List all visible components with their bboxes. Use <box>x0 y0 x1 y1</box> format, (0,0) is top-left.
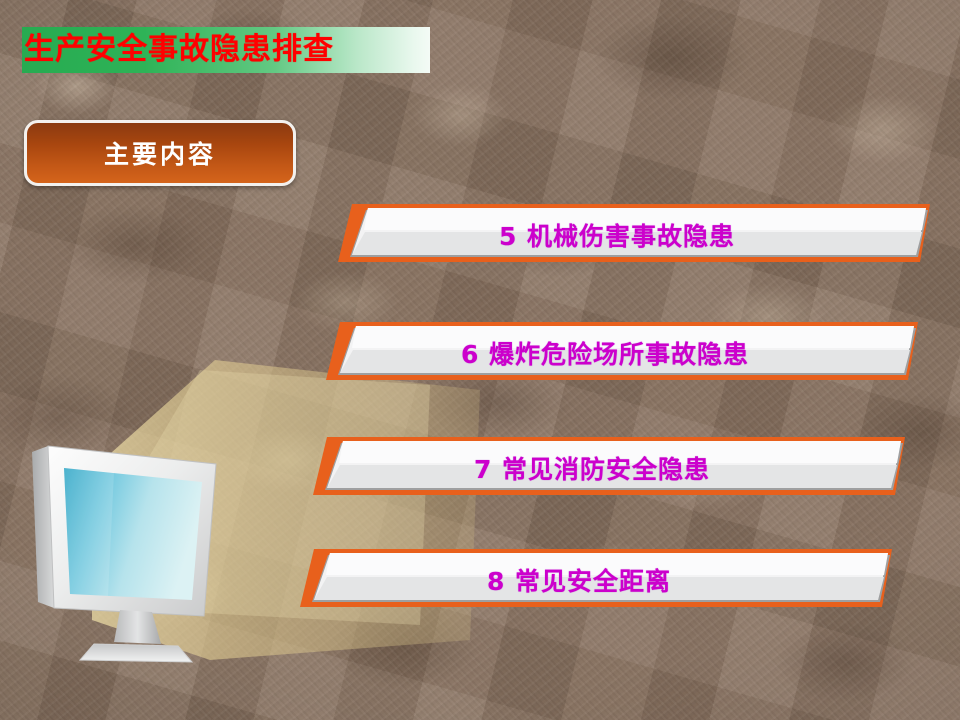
content-bar-2-label: 6 爆炸危险场所事故隐患 <box>318 318 918 388</box>
content-bar-1[interactable]: 5 机械伤害事故隐患 <box>330 200 930 270</box>
content-bar-1-label: 5 机械伤害事故隐患 <box>330 200 930 270</box>
slide-title: 生产安全事故隐患排查 <box>24 26 484 74</box>
content-bar-3-label: 7 常见消防安全隐患 <box>305 433 905 503</box>
main-content-pill[interactable]: 主要内容 <box>24 120 296 186</box>
content-bar-3[interactable]: 7 常见消防安全隐患 <box>305 433 905 503</box>
content-bar-4[interactable]: 8 常见安全距离 <box>292 545 892 615</box>
main-content-label: 主要内容 <box>104 135 216 171</box>
content-bar-4-label: 8 常见安全距离 <box>292 545 892 615</box>
slide-canvas: 生产安全事故隐患排查 主要内容 <box>0 0 960 720</box>
content-bar-2[interactable]: 6 爆炸危险场所事故隐患 <box>318 318 918 388</box>
lcd-monitor-icon <box>28 430 258 670</box>
